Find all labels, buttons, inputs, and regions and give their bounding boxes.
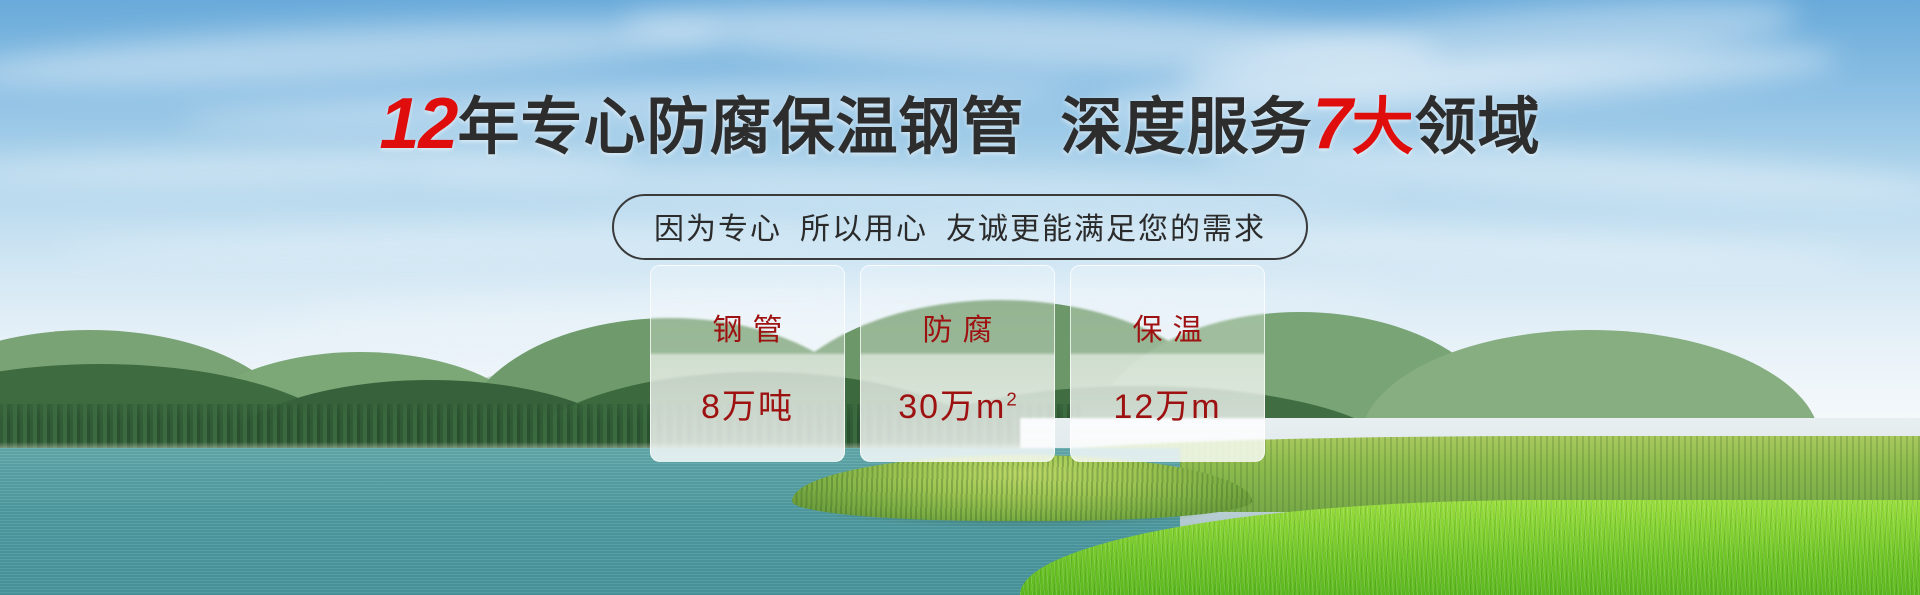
banner-subtitle-pill: 因为专心所以用心友诚更能满足您的需求 <box>612 194 1308 260</box>
stat-card-value: 30万m2 <box>898 379 1017 428</box>
headline-text-primary: 年专心防腐保温钢管 <box>457 93 1024 162</box>
hero-banner: 12年专心防腐保温钢管深度服务7大领域 因为专心所以用心友诚更能满足您的需求 钢… <box>0 0 1920 595</box>
stat-card-insulation[interactable]: 保温 12万m <box>1070 265 1265 462</box>
stat-value-superscript: 2 <box>1006 389 1016 410</box>
banner-subtitle-wrap: 因为专心所以用心友诚更能满足您的需求 <box>0 194 1920 260</box>
subtitle-segment-1: 因为专心 <box>654 213 782 246</box>
headline-text-secondary: 深度服务 <box>1061 93 1313 162</box>
stat-card-title: 防腐 <box>913 305 1003 349</box>
headline-fields-number: 7 <box>1313 84 1352 164</box>
banner-content: 12年专心防腐保温钢管深度服务7大领域 因为专心所以用心友诚更能满足您的需求 钢… <box>0 0 1920 595</box>
stat-card-anticorrosion[interactable]: 防腐 30万m2 <box>860 265 1055 462</box>
stat-card-value: 8万吨 <box>701 379 794 428</box>
headline-text-tertiary: 领域 <box>1415 93 1541 162</box>
stat-value-text: 8万吨 <box>701 388 794 426</box>
stat-card-steel-pipe[interactable]: 钢管 8万吨 <box>650 265 845 462</box>
stat-value-text: 30万m <box>898 388 1006 426</box>
headline-accent-word: 大 <box>1352 93 1415 162</box>
banner-headline: 12年专心防腐保温钢管深度服务7大领域 <box>0 86 1920 164</box>
stat-card-title: 保温 <box>1123 305 1213 349</box>
stat-card-value: 12万m <box>1113 379 1221 428</box>
subtitle-segment-2: 所以用心 <box>800 213 928 246</box>
stat-value-text: 12万m <box>1113 388 1221 426</box>
stat-card-title: 钢管 <box>703 305 793 349</box>
stat-card-list: 钢管 8万吨 防腐 30万m2 保温 12万m <box>650 265 1265 462</box>
headline-years-number: 12 <box>379 84 457 164</box>
subtitle-segment-3: 友诚更能满足您的需求 <box>946 213 1266 246</box>
